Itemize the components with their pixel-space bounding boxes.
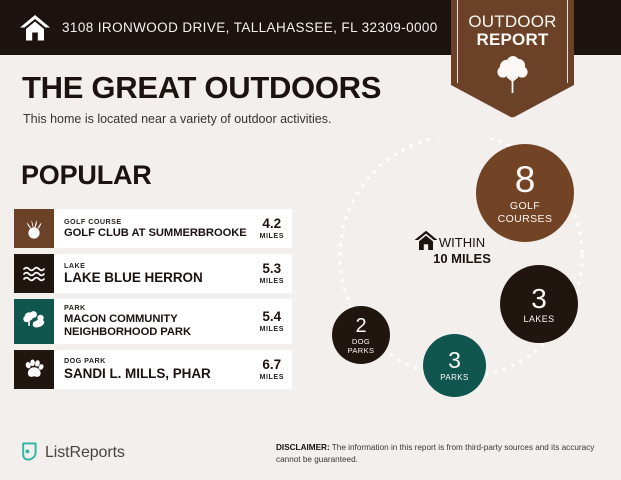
popular-list: GOLF COURSE GOLF CLUB AT SUMMERBROOKE 4.…: [14, 209, 292, 395]
distance-value: 4.2: [260, 217, 284, 231]
list-item-name-line-2: NEIGHBORHOOD PARK: [64, 326, 191, 339]
stat-count: 8: [515, 161, 536, 198]
stat-circle-parks[interactable]: 3 PARKS: [423, 334, 486, 397]
list-item-texts: PARK MACON COMMUNITY NEIGHBORHOOD PARK: [64, 303, 191, 340]
list-item[interactable]: LAKE LAKE BLUE HERRON 5.3 MILES: [14, 254, 292, 293]
list-item-distance: 5.4 MILES: [254, 310, 284, 333]
list-item-body: DOG PARK SANDI L. MILLS, PHAR 6.7 MILES: [54, 350, 292, 389]
disclaimer-label: DISCLAIMER:: [276, 443, 330, 452]
popular-heading: POPULAR: [21, 160, 152, 191]
stat-label: PARKS: [440, 374, 469, 382]
distance-unit: MILES: [260, 324, 284, 333]
within-10-miles-diagram: 8 GOLF COURSES 3 LAKES 3 PARKS 2 DOG PAR…: [318, 138, 610, 410]
list-item-category: DOG PARK: [64, 356, 211, 366]
list-item-texts: DOG PARK SANDI L. MILLS, PHAR: [64, 356, 211, 382]
center-line-2: 10 MILES: [414, 251, 510, 267]
stat-count: 3: [531, 285, 547, 313]
distance-unit: MILES: [260, 372, 284, 381]
distance-unit: MILES: [260, 276, 284, 285]
outdoor-report-page: 3108 IRONWOOD DRIVE, TALLAHASSEE, FL 323…: [0, 0, 621, 480]
outdoor-report-badge: OUTDOOR REPORT: [451, 0, 574, 118]
stat-label-line-1: DOG: [352, 337, 370, 346]
list-item-distance: 5.3 MILES: [254, 262, 284, 285]
list-item-distance: 6.7 MILES: [254, 358, 284, 381]
stat-count: 3: [448, 349, 461, 372]
listreports-logo[interactable]: ListReports: [20, 440, 125, 466]
distance-value: 6.7: [260, 358, 284, 372]
list-item-distance: 4.2 MILES: [254, 217, 284, 240]
stat-circle-golf-courses[interactable]: 8 GOLF COURSES: [476, 144, 574, 242]
badge-line-2: REPORT: [451, 31, 574, 49]
stat-circle-dog-parks[interactable]: 2 DOG PARKS: [332, 306, 390, 364]
list-item-category: LAKE: [64, 261, 203, 271]
page-subtitle: This home is located near a variety of o…: [23, 112, 331, 126]
list-item[interactable]: GOLF COURSE GOLF CLUB AT SUMMERBROOKE 4.…: [14, 209, 292, 248]
distance-value: 5.4: [260, 310, 284, 324]
listreports-house-pin-icon: [20, 440, 39, 466]
distance-value: 5.3: [260, 262, 284, 276]
list-item-texts: LAKE LAKE BLUE HERRON: [64, 261, 203, 287]
stat-label-line-1: GOLF: [510, 200, 540, 212]
golf-icon: [14, 209, 54, 248]
list-item-body: GOLF COURSE GOLF CLUB AT SUMMERBROOKE 4.…: [54, 209, 292, 248]
list-item-category: PARK: [64, 303, 191, 313]
list-item-body: PARK MACON COMMUNITY NEIGHBORHOOD PARK 5…: [54, 299, 292, 344]
property-address: 3108 IRONWOOD DRIVE, TALLAHASSEE, FL 323…: [62, 20, 438, 35]
list-item-body: LAKE LAKE BLUE HERRON 5.3 MILES: [54, 254, 292, 293]
home-icon: [18, 11, 52, 45]
page-title: THE GREAT OUTDOORS: [22, 70, 381, 106]
water-waves-icon: [14, 254, 54, 293]
list-item[interactable]: PARK MACON COMMUNITY NEIGHBORHOOD PARK 5…: [14, 299, 292, 344]
list-item-name-line-1: MACON COMMUNITY: [64, 313, 191, 326]
tree-park-icon: [14, 299, 54, 344]
list-item-category: GOLF COURSE: [64, 217, 247, 227]
listreports-logo-text: ListReports: [45, 444, 125, 462]
list-item-name: GOLF CLUB AT SUMMERBROOKE: [64, 227, 247, 240]
stat-label-line-2: PARKS: [348, 346, 375, 355]
disclaimer: DISCLAIMER: The information in this repo…: [276, 442, 601, 467]
distance-unit: MILES: [260, 231, 284, 240]
stat-count: 2: [355, 316, 366, 336]
list-item-name: LAKE BLUE HERRON: [64, 270, 203, 286]
stat-label: LAKES: [523, 315, 554, 324]
list-item[interactable]: DOG PARK SANDI L. MILLS, PHAR 6.7 MILES: [14, 350, 292, 389]
list-item-name: SANDI L. MILLS, PHAR: [64, 366, 211, 382]
paw-print-icon: [14, 350, 54, 389]
list-item-texts: GOLF COURSE GOLF CLUB AT SUMMERBROOKE: [64, 217, 247, 240]
badge-line-1: OUTDOOR: [451, 13, 574, 31]
stat-label-line-2: COURSES: [498, 213, 553, 225]
tree-icon: [451, 56, 574, 94]
diagram-center: WITHIN 10 MILES: [414, 230, 510, 266]
stat-circle-lakes[interactable]: 3 LAKES: [500, 265, 578, 343]
badge-text: OUTDOOR REPORT: [451, 13, 574, 50]
